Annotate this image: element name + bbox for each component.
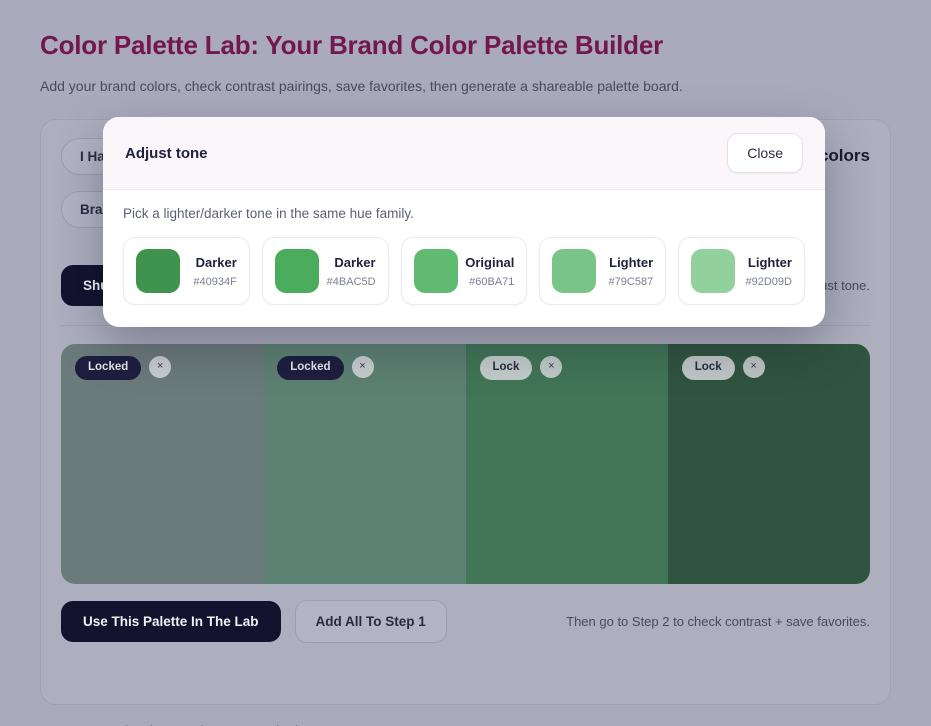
tone-color-chip (414, 249, 458, 293)
tone-option-card[interactable]: Lighter #92D09D (678, 237, 805, 305)
tone-options-row: Darker #40934F Darker #4BAC5D Original #… (123, 237, 805, 305)
adjust-tone-modal: Adjust tone Close Pick a lighter/darker … (103, 117, 825, 327)
tone-label: Lighter (748, 255, 792, 270)
tone-label: Darker (196, 255, 237, 270)
modal-overlay[interactable] (0, 0, 931, 726)
tone-option-card[interactable]: Darker #4BAC5D (262, 237, 389, 305)
tone-meta: Darker #4BAC5D (330, 255, 376, 288)
modal-title: Adjust tone (125, 145, 208, 162)
tone-hex-value: #40934F (193, 276, 236, 288)
tone-label: Lighter (609, 255, 653, 270)
tone-color-chip (136, 249, 180, 293)
tone-color-chip (691, 249, 735, 293)
tone-color-chip (552, 249, 596, 293)
close-button[interactable]: Close (727, 133, 803, 173)
tone-hex-value: #4BAC5D (327, 276, 376, 288)
tone-meta: Lighter #92D09D (746, 255, 792, 288)
tone-option-card[interactable]: Original #60BA71 (401, 237, 528, 305)
tone-option-card[interactable]: Lighter #79C587 (539, 237, 666, 305)
tone-hex-value: #79C587 (609, 276, 654, 288)
modal-header: Adjust tone Close (103, 117, 825, 190)
tone-label: Darker (334, 255, 375, 270)
tone-hex-value: #92D09D (746, 276, 792, 288)
tone-meta: Original #60BA71 (469, 255, 515, 288)
tone-option-card[interactable]: Darker #40934F (123, 237, 250, 305)
tone-meta: Darker #40934F (191, 255, 237, 288)
tone-color-chip (275, 249, 319, 293)
tone-label: Original (465, 255, 514, 270)
tone-hex-value: #60BA71 (469, 276, 514, 288)
tone-meta: Lighter #79C587 (607, 255, 653, 288)
modal-body: Pick a lighter/darker tone in the same h… (103, 190, 825, 327)
modal-description: Pick a lighter/darker tone in the same h… (123, 206, 805, 221)
